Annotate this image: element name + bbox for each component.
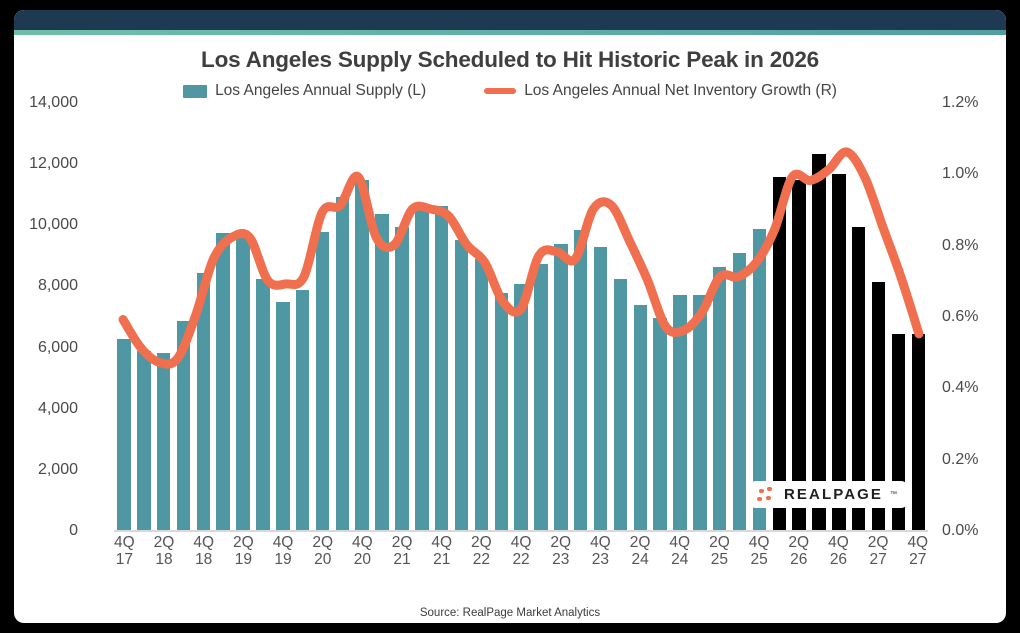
x-axis-tick-label: 2Q18 [154,534,175,590]
y-axis-right-tick: 0.4% [942,379,978,397]
x-tick-year: 19 [273,551,294,568]
bar-cell [730,102,750,530]
x-axis-tick-label [135,534,154,590]
x-axis-tick-label: 4Q20 [352,534,373,590]
x-tick-year: 19 [233,551,254,568]
bar-historical [475,259,489,530]
bar-historical [236,235,250,530]
x-axis-tick-label: 4Q23 [590,534,611,590]
x-axis-tick-label: 2Q26 [788,534,809,590]
x-tick-year: 27 [907,551,928,568]
x-axis-tick-label [888,534,907,590]
bar-cell [809,102,829,530]
bar-cell [889,102,909,530]
bar-historical [495,293,509,530]
y-axis-left-tick: 14,000 [29,94,78,112]
bar-cell [193,102,213,530]
bar-cell [908,102,928,530]
x-tick-quarter: 2Q [233,534,254,551]
bar-historical [375,214,389,530]
bar-cell [769,102,789,530]
x-axis-tick-label: 4Q25 [749,534,770,590]
legend-item-inventory-growth: Los Angeles Annual Net Inventory Growth … [484,82,837,100]
x-axis-tick-label [293,534,312,590]
x-axis-tick-label [373,534,392,590]
x-tick-year: 25 [749,551,770,568]
bar-cell [710,102,730,530]
y-axis-left-tick: 12,000 [29,155,78,173]
x-axis-tick-label [333,534,352,590]
x-tick-year: 22 [511,551,532,568]
realpage-trademark: ™ [890,491,897,498]
x-axis-tick-label [412,534,431,590]
bar-cell [352,102,372,530]
bar-cell [273,102,293,530]
y-axis-right-tick: 1.2% [942,94,978,112]
x-axis-tick-label [809,534,828,590]
x-axis-tick-label [611,534,630,590]
bar-cell [610,102,630,530]
x-axis-tick-label [492,534,511,590]
bar-cell [253,102,273,530]
bar-historical [197,273,211,530]
y-axis-left: 02,0004,0006,0008,00010,00012,00014,000 [14,102,86,532]
x-axis-tick-label: 4Q18 [193,534,214,590]
bar-historical [733,253,747,530]
bar-cell [313,102,333,530]
x-axis-tick-label [174,534,193,590]
bar-cell [571,102,591,530]
x-axis: 4Q172Q184Q182Q194Q192Q204Q202Q214Q212Q22… [114,534,928,590]
bar-cell [849,102,869,530]
x-tick-quarter: 2Q [471,534,492,551]
y-axis-right-tick: 0.2% [942,451,978,469]
x-tick-year: 27 [868,551,889,568]
y-axis-left-tick: 0 [69,522,78,540]
plot-area: 02,0004,0006,0008,00010,00012,00014,000 … [14,102,1006,532]
bar-cell [750,102,770,530]
x-axis-tick-label: 4Q22 [511,534,532,590]
bar-historical [157,353,171,530]
y-axis-right-tick: 0.0% [942,522,978,540]
chart-legend: Los Angeles Annual Supply (L) Los Angele… [14,82,1006,100]
bar-cell [452,102,472,530]
x-tick-year: 26 [788,551,809,568]
x-axis-tick-label: 4Q17 [114,534,135,590]
bar-cell [114,102,134,530]
plot-canvas [114,102,928,532]
bar-forecast [912,334,926,530]
x-axis-tick-label [650,534,669,590]
x-axis-tick-label [769,534,788,590]
x-axis-tick-label: 2Q22 [471,534,492,590]
bar-cell [551,102,571,530]
bar-cell [154,102,174,530]
y-axis-left-tick: 6,000 [38,339,78,357]
bar-historical [415,209,429,530]
bar-historical [514,284,528,530]
bar-cell [432,102,452,530]
x-tick-quarter: 2Q [154,534,175,551]
x-tick-quarter: 4Q [114,534,135,551]
x-tick-year: 18 [154,551,175,568]
legend-line-swatch-icon [484,88,516,94]
bar-historical [634,305,648,530]
bar-cell [392,102,412,530]
x-tick-year: 20 [352,551,373,568]
bar-forecast [773,177,787,530]
x-tick-quarter: 4Q [749,534,770,551]
x-axis-tick-label [849,534,868,590]
bar-historical [435,206,449,530]
bar-forecast [792,180,806,530]
legend-label-supply: Los Angeles Annual Supply (L) [215,82,426,100]
x-tick-quarter: 4Q [828,534,849,551]
x-tick-year: 18 [193,551,214,568]
bar-historical [653,318,667,530]
y-axis-left-tick: 2,000 [38,461,78,479]
x-tick-year: 22 [471,551,492,568]
bar-historical [256,279,270,530]
bar-historical [355,180,369,530]
bar-cell [293,102,313,530]
bar-historical [216,233,230,530]
x-tick-year: 24 [630,551,651,568]
x-tick-quarter: 4Q [431,534,452,551]
legend-bar-swatch-icon [183,85,207,98]
bar-historical [336,197,350,530]
bar-cell [531,102,551,530]
bar-historical [177,321,191,530]
bar-historical [395,227,409,530]
bar-historical [594,247,608,530]
x-axis-tick-label: 4Q24 [669,534,690,590]
x-axis-tick-label: 2Q19 [233,534,254,590]
window-header-bar [14,10,1006,30]
x-axis-tick-label: 4Q21 [431,534,452,590]
bar-forecast [832,174,846,530]
x-tick-year: 21 [431,551,452,568]
x-axis-tick-label: 2Q23 [550,534,571,590]
legend-item-supply: Los Angeles Annual Supply (L) [183,82,426,100]
y-axis-left-tick: 8,000 [38,277,78,295]
x-tick-year: 21 [392,551,413,568]
bar-historical [693,295,707,530]
bar-cell [650,102,670,530]
bar-historical [574,230,588,530]
bar-cell [789,102,809,530]
x-tick-quarter: 4Q [669,534,690,551]
x-tick-year: 20 [312,551,333,568]
bar-cell [829,102,849,530]
bar-cell [213,102,233,530]
bar-historical [276,302,290,530]
x-tick-year: 26 [828,551,849,568]
x-tick-quarter: 4Q [511,534,532,551]
x-tick-quarter: 4Q [907,534,928,551]
bar-historical [614,279,628,530]
x-axis-tick-label: 4Q19 [273,534,294,590]
x-tick-quarter: 2Q [868,534,889,551]
x-axis-baseline [114,530,928,532]
x-axis-tick-label [254,534,273,590]
x-tick-quarter: 2Q [788,534,809,551]
x-axis-tick-label [452,534,471,590]
x-axis-tick-label: 2Q24 [630,534,651,590]
x-axis-tick-label: 2Q21 [392,534,413,590]
bar-cell [233,102,253,530]
bar-cell [174,102,194,530]
x-axis-tick-label [531,534,550,590]
bar-cell [412,102,432,530]
x-tick-quarter: 4Q [590,534,611,551]
bar-cell [591,102,611,530]
bar-cell [670,102,690,530]
x-tick-year: 24 [669,551,690,568]
y-axis-right-tick: 1.0% [942,165,978,183]
source-note: Source: RealPage Market Analytics [14,607,1006,619]
x-axis-tick-label: 4Q26 [828,534,849,590]
realpage-logo-text: REALPAGE [784,486,883,503]
x-tick-year: 25 [709,551,730,568]
y-axis-right-tick: 0.6% [942,308,978,326]
bar-cell [491,102,511,530]
bar-historical [316,232,330,530]
x-tick-quarter: 2Q [550,534,571,551]
x-axis-tick-label [690,534,709,590]
bar-cell [690,102,710,530]
y-axis-right-tick: 0.8% [942,237,978,255]
x-axis-tick-label [571,534,590,590]
x-axis-tick-label: 2Q25 [709,534,730,590]
y-axis-left-tick: 10,000 [29,216,78,234]
legend-label-inventory-growth: Los Angeles Annual Net Inventory Growth … [524,82,837,100]
x-tick-quarter: 4Q [352,534,373,551]
x-tick-year: 23 [550,551,571,568]
realpage-dots-icon [757,487,777,503]
bar-historical [554,244,568,530]
bar-cell [630,102,650,530]
bar-historical [673,295,687,530]
x-tick-quarter: 4Q [273,534,294,551]
x-axis-tick-label [730,534,749,590]
bar-cell [134,102,154,530]
x-axis-tick-label: 2Q27 [868,534,889,590]
y-axis-right: 0.0%0.2%0.4%0.6%0.8%1.0%1.2% [934,102,1006,532]
chart-title: Los Angeles Supply Scheduled to Hit Hist… [14,47,1006,73]
chart-card: Los Angeles Supply Scheduled to Hit Hist… [14,10,1006,623]
bar-historical [137,351,151,530]
bar-cell [372,102,392,530]
x-tick-year: 23 [590,551,611,568]
bar-historical [117,339,131,530]
bar-cell [869,102,889,530]
bar-historical [455,240,469,530]
header-accent-stripe [14,30,1006,35]
bar-historical [534,264,548,530]
bar-cell [332,102,352,530]
bar-forecast [812,154,826,530]
bar-historical [296,290,310,530]
bar-cell [511,102,531,530]
bar-historical [713,267,727,530]
realpage-logo: REALPAGE ™ [749,481,908,508]
bar-series [114,102,928,530]
x-tick-quarter: 4Q [193,534,214,551]
x-tick-quarter: 2Q [312,534,333,551]
x-tick-quarter: 2Q [392,534,413,551]
y-axis-left-tick: 4,000 [38,400,78,418]
x-axis-tick-label: 2Q20 [312,534,333,590]
x-tick-quarter: 2Q [630,534,651,551]
x-axis-tick-label [214,534,233,590]
bar-cell [471,102,491,530]
x-tick-quarter: 2Q [709,534,730,551]
x-tick-year: 17 [114,551,135,568]
x-axis-tick-label: 4Q27 [907,534,928,590]
